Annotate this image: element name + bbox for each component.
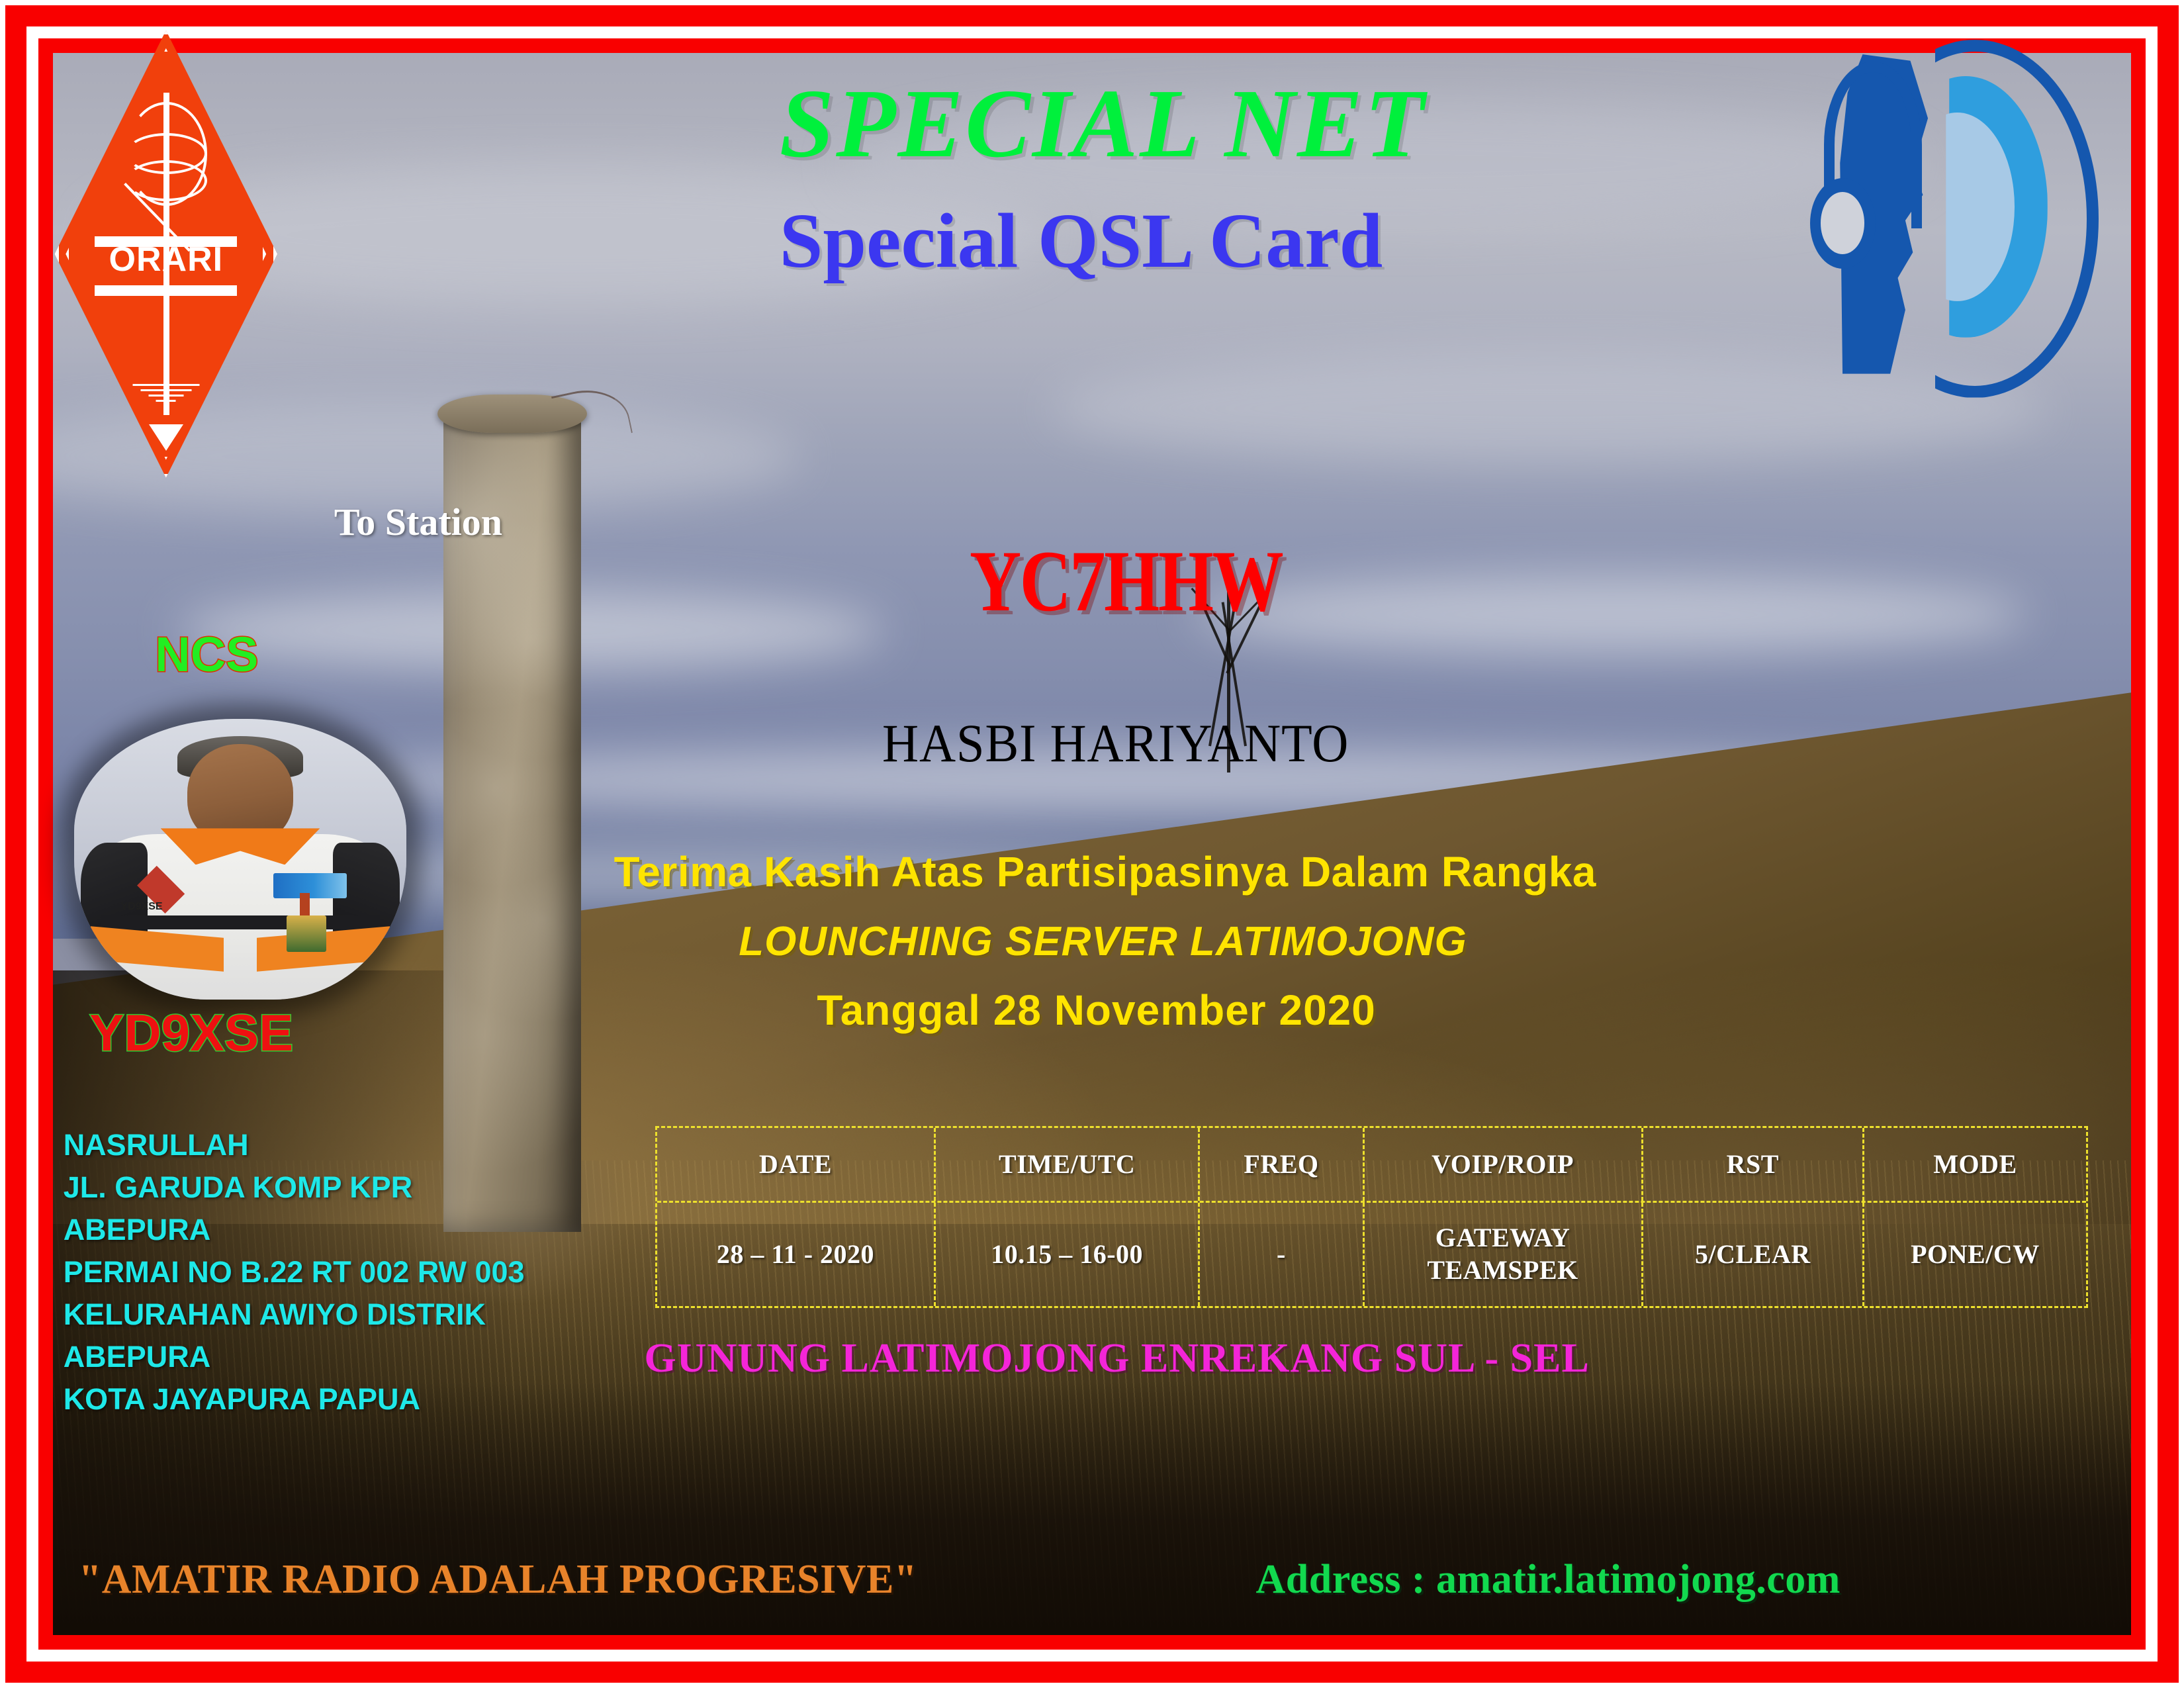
thanks-line: Terima Kasih Atas Partisipasinya Dalam R… bbox=[614, 847, 1596, 896]
station-callsign: YC7HHW bbox=[970, 530, 1282, 632]
card-title-main: SPECIAL NET bbox=[780, 68, 1426, 180]
ncs-label: NCS bbox=[155, 626, 258, 682]
headset-earcup-inner bbox=[1821, 192, 1864, 254]
voip-line-2: TEAMSPEK bbox=[1427, 1254, 1578, 1287]
table-header-rst: RST bbox=[1643, 1128, 1865, 1201]
voip-line-1: GATEWAY bbox=[1427, 1222, 1578, 1254]
operator-name: HASBI HARIYANTO bbox=[882, 712, 1349, 774]
qsl-card: ORARI SPECIAL NET Special QSL Card To St… bbox=[0, 0, 2184, 1688]
table-header-freq: FREQ bbox=[1200, 1128, 1364, 1201]
table-cell-rst: 5/CLEAR bbox=[1643, 1203, 1865, 1306]
portrait-chest-logo bbox=[273, 873, 346, 898]
portrait-id-badge bbox=[287, 915, 326, 952]
ncs-operator-photo: YD9XSE bbox=[74, 719, 406, 999]
portrait-stripe bbox=[101, 915, 379, 929]
event-title: LOUNCHING SERVER LATIMOJONG bbox=[739, 918, 1467, 965]
orari-logo: ORARI bbox=[55, 30, 278, 478]
table-cell-freq: - bbox=[1200, 1203, 1364, 1306]
address-line: NASRULLAH bbox=[64, 1124, 525, 1166]
address-line: ABEPURA bbox=[64, 1336, 525, 1378]
table-cell-date: 28 – 11 - 2020 bbox=[657, 1203, 936, 1306]
orari-bar bbox=[95, 285, 237, 296]
qso-log-table: DATE TIME/UTC FREQ VOIP/ROIP RST MODE 28… bbox=[655, 1126, 2088, 1308]
address-line: KOTA JAYAPURA PAPUA bbox=[64, 1378, 525, 1421]
address-line: JL. GARUDA KOMP KPR bbox=[64, 1166, 525, 1209]
orari-triangle bbox=[149, 424, 183, 451]
card-title-sub: Special QSL Card bbox=[780, 196, 1383, 286]
table-row: 28 – 11 - 2020 10.15 – 16-00 - GATEWAY T… bbox=[657, 1203, 2086, 1306]
table-header-row: DATE TIME/UTC FREQ VOIP/ROIP RST MODE bbox=[657, 1128, 2086, 1203]
table-cell-voip-roip: GATEWAY TEAMSPEK bbox=[1365, 1203, 1643, 1306]
cloud bbox=[1196, 575, 2027, 655]
web-address: Address : amatir.latimojong.com bbox=[1256, 1556, 1841, 1603]
to-station-label: To Station bbox=[334, 500, 502, 544]
table-cell-mode: PONE/CW bbox=[1864, 1203, 2086, 1306]
table-header-mode: MODE bbox=[1864, 1128, 2086, 1201]
event-date-line: Tanggal 28 November 2020 bbox=[817, 986, 1376, 1035]
table-header-time-utc: TIME/UTC bbox=[936, 1128, 1200, 1201]
address-line: ABEPURA bbox=[64, 1209, 525, 1251]
motto-text: "AMATIR RADIO ADALAH PROGRESIVE" bbox=[79, 1556, 917, 1603]
table-header-voip-roip: VOIP/ROIP bbox=[1365, 1128, 1643, 1201]
sender-address-block: NASRULLAH JL. GARUDA KOMP KPR ABEPURA PE… bbox=[64, 1124, 525, 1420]
orari-wordmark: ORARI bbox=[55, 242, 278, 277]
portrait-callsign-tag: YD9XSE bbox=[120, 901, 162, 913]
table-cell-time-utc: 10.15 – 16-00 bbox=[936, 1203, 1200, 1306]
address-line: KELURAHAN AWIYO DISTRIK bbox=[64, 1293, 525, 1336]
ncs-callsign: YD9XSE bbox=[89, 1003, 293, 1063]
location-line: GUNUNG LATIMOJONG ENREKANG SUL - SEL bbox=[645, 1335, 1590, 1382]
table-header-date: DATE bbox=[657, 1128, 936, 1201]
address-line: PERMAI NO B.22 RT 002 RW 003 bbox=[64, 1251, 525, 1293]
headset-profile-logo-icon bbox=[1802, 25, 2075, 388]
ground-symbol-icon bbox=[132, 384, 199, 405]
